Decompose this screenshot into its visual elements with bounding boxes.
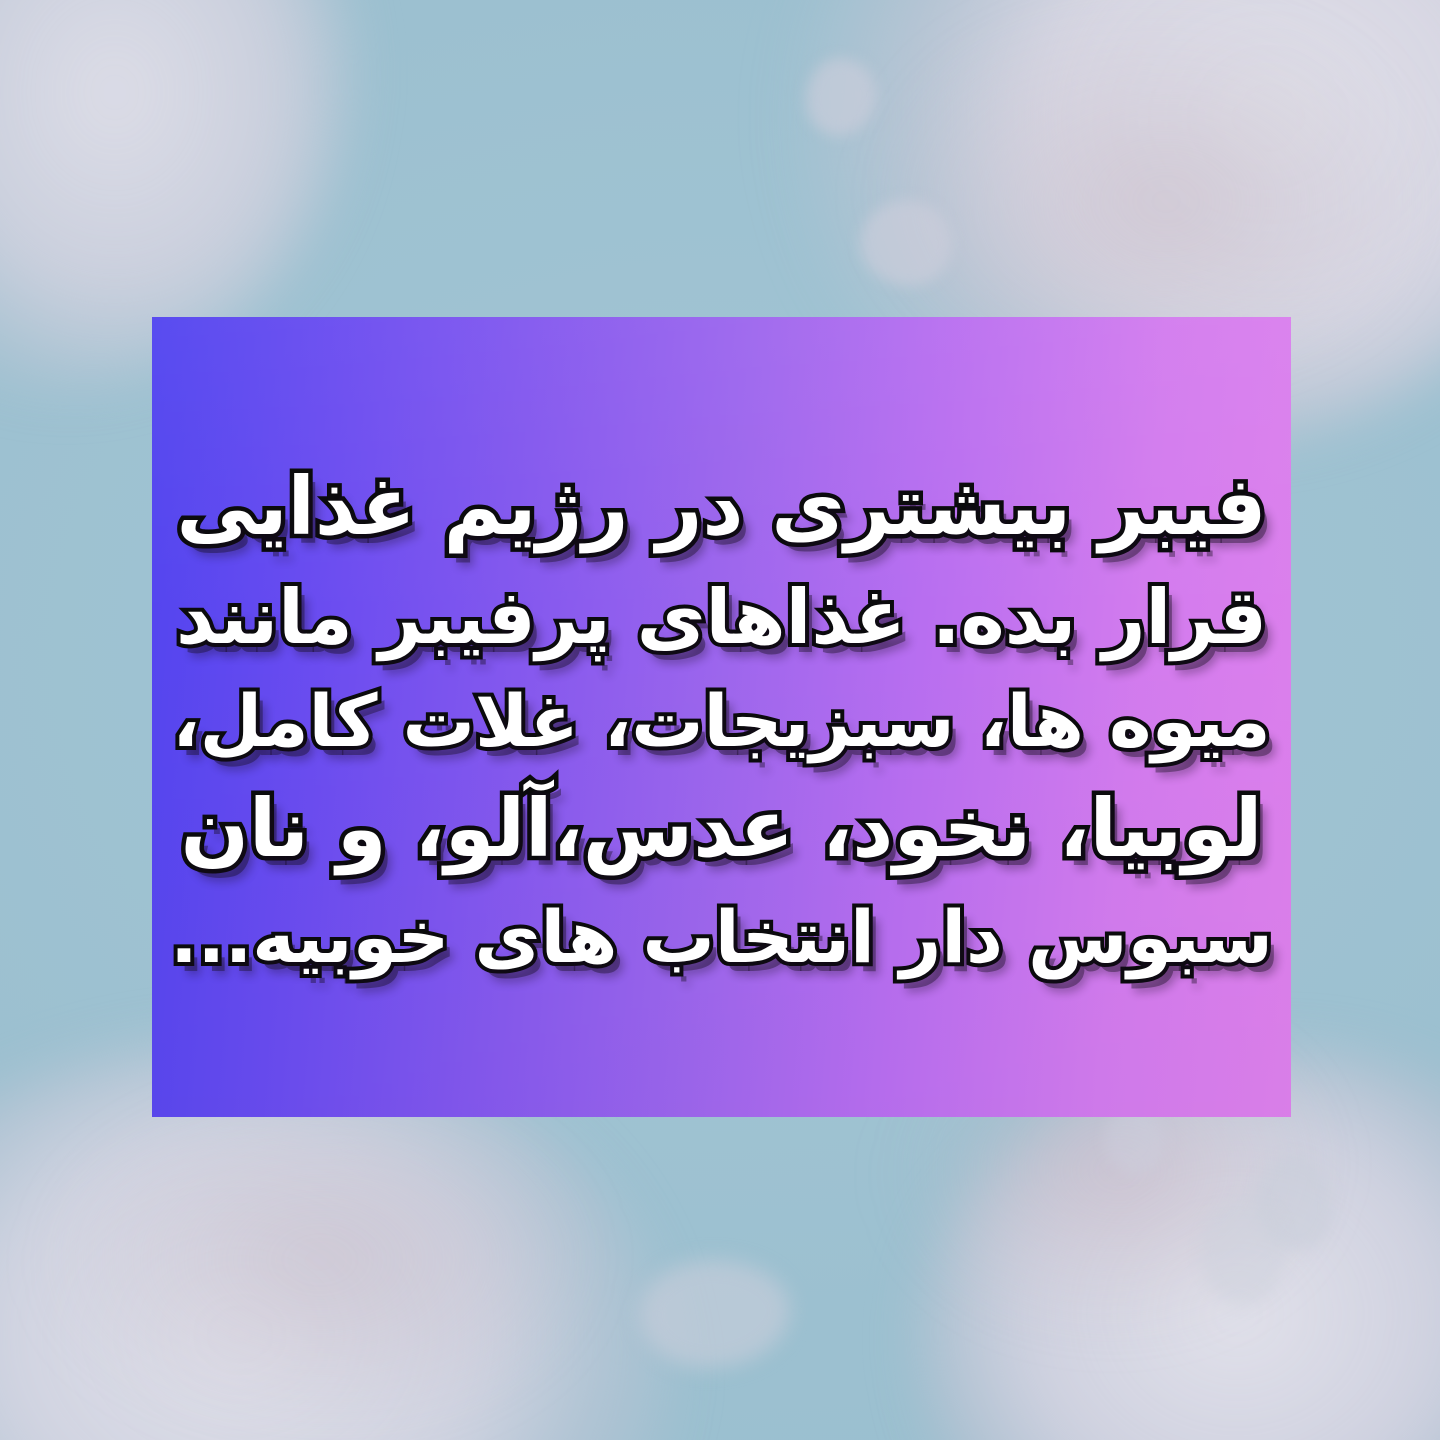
caption-line: سبوس دار انتخاب های خوبیه... <box>170 886 1273 988</box>
caption-line: لوبیا، نخود، عدس،آلو، و نان <box>170 772 1273 886</box>
caption-line: میوه ها، سبزیجات، غلات کامل، <box>170 670 1273 772</box>
watercolor-wash-bottom-left-accent <box>60 1110 580 1410</box>
caption-text-block: فیبر بیشتری در رژیم غذایی قرار بده. غذاه… <box>170 450 1273 988</box>
watercolor-blob <box>1200 1195 1286 1305</box>
poster-canvas: فیبر بیشتری در رژیم غذایی قرار بده. غذاه… <box>0 0 1440 1440</box>
caption-line: قرار بده. غذاهای پرفیبر مانند <box>170 564 1273 671</box>
caption-line: فیبر بیشتری در رژیم غذایی <box>170 450 1273 564</box>
gradient-caption-card: فیبر بیشتری در رژیم غذایی قرار بده. غذاه… <box>152 317 1291 1117</box>
watercolor-blob <box>860 200 952 286</box>
